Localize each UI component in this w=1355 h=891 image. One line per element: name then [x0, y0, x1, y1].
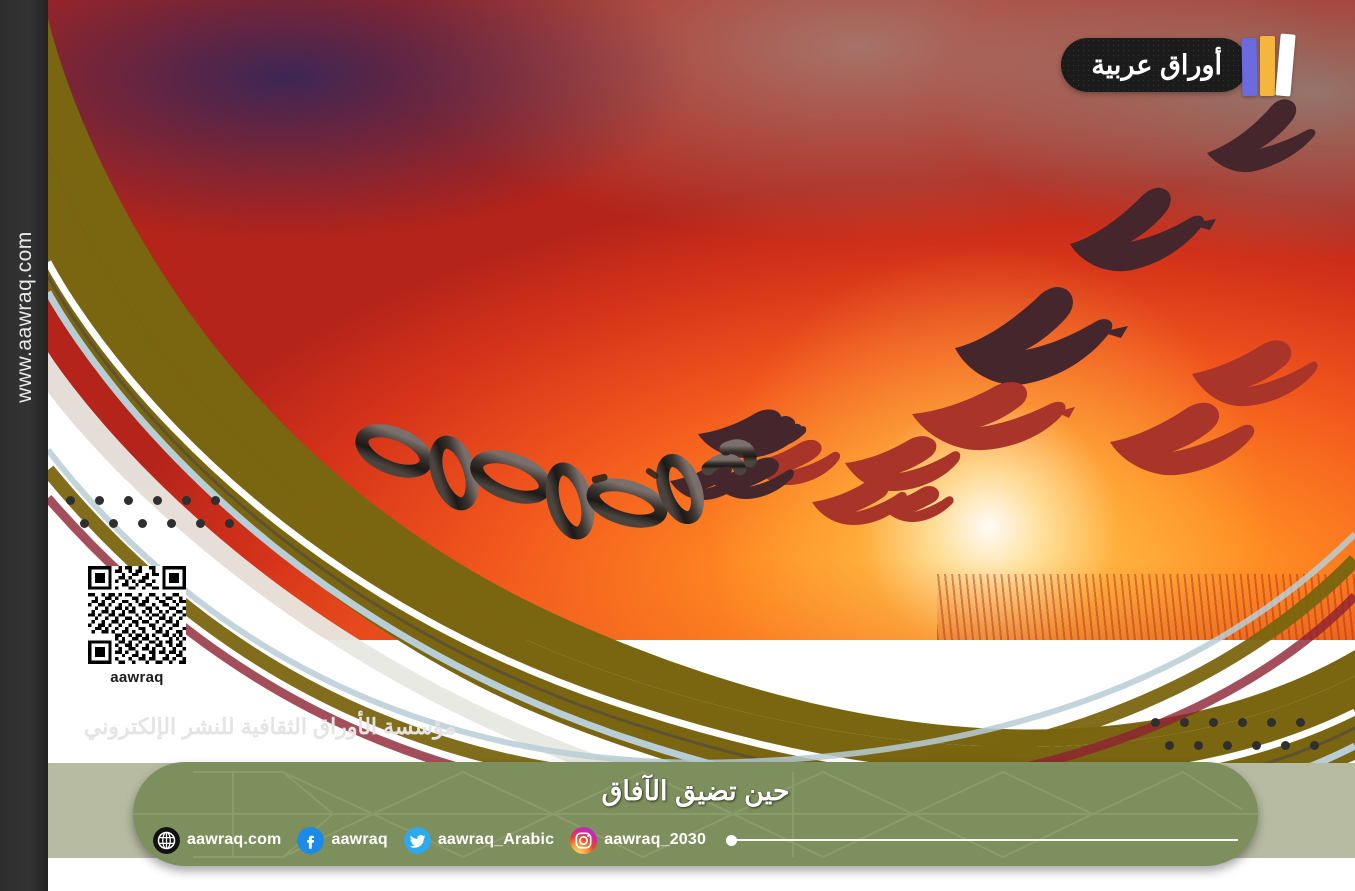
- qr-code-block[interactable]: aawraq: [88, 566, 186, 686]
- publisher-logo[interactable]: أوراق عربية: [1061, 38, 1293, 92]
- dot-row: [80, 519, 234, 528]
- broken-chain: [348, 415, 768, 565]
- logo-text: أوراق عربية: [1091, 50, 1222, 81]
- instagram-icon: [570, 827, 597, 854]
- globe-icon: [153, 827, 180, 854]
- book-spine: www.aawraq.com: [0, 0, 48, 891]
- rule-dot: [726, 835, 737, 846]
- bird-icon: [878, 480, 956, 524]
- title-bar: حين تضيق الآفاق aawraq.com aawraq: [133, 762, 1258, 866]
- logo-books-icon: [1242, 34, 1293, 96]
- facebook-handle: aawraq: [331, 831, 387, 849]
- social-link-facebook[interactable]: aawraq: [297, 827, 387, 854]
- instagram-handle: aawraq_2030: [604, 831, 706, 849]
- spine-url-label: www.aawraq.com: [13, 0, 37, 642]
- dot-row: [1151, 718, 1319, 727]
- dot-row: [1165, 741, 1319, 750]
- publisher-name: مؤسسة الأوراق الثقافية للنشر الإلكتروني: [0, 714, 540, 740]
- website-handle: aawraq.com: [187, 831, 281, 849]
- twitter-icon: [404, 827, 431, 854]
- dot-cluster-left: [66, 496, 234, 528]
- qr-code-icon: [88, 566, 186, 664]
- facebook-icon: [297, 827, 324, 854]
- dot-row: [66, 496, 234, 505]
- social-link-twitter[interactable]: aawraq_Arabic: [404, 827, 554, 854]
- social-link-instagram[interactable]: aawraq_2030: [570, 827, 706, 854]
- bird-icon: [1203, 95, 1318, 175]
- trailing-rule: [726, 835, 1238, 846]
- book-title: حين تضيق الآفاق: [133, 776, 1258, 807]
- bird-icon: [1068, 180, 1218, 275]
- bird-icon: [1190, 330, 1320, 408]
- book-cover: www.aawraq.com أوراق عربية: [0, 0, 1355, 891]
- social-links: aawraq.com aawraq aawraq_Arabic: [153, 824, 1238, 856]
- social-link-website[interactable]: aawraq.com: [153, 827, 281, 854]
- qr-code-label: aawraq: [88, 669, 186, 686]
- dot-cluster-right: [1151, 718, 1319, 750]
- twitter-handle: aawraq_Arabic: [438, 831, 554, 849]
- rule-line: [737, 839, 1238, 841]
- bottom-white-edge: [48, 863, 1355, 891]
- logo-pill: أوراق عربية: [1061, 38, 1248, 92]
